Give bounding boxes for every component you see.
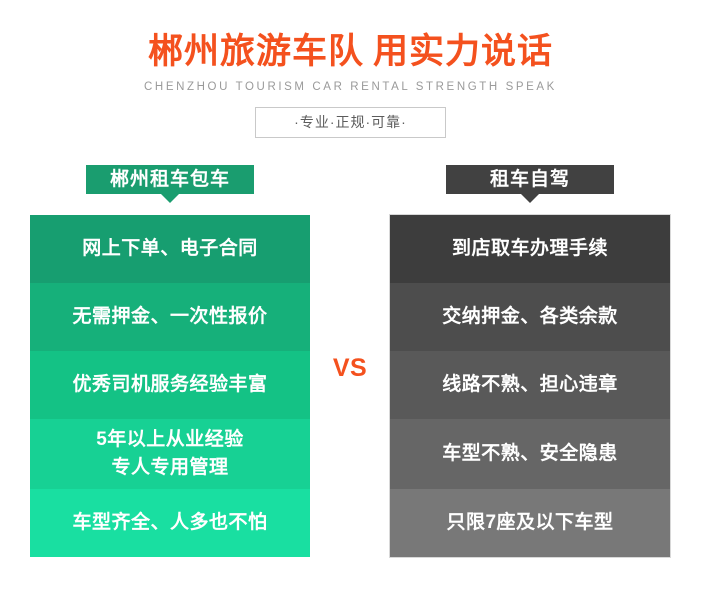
page-subtitle: CHENZHOU TOURISM CAR RENTAL STRENGTH SPE… [0,81,701,93]
list-item: 到店取车办理手续 [390,215,670,283]
list-item: 5年以上从业经验 专人专用管理 [30,419,310,489]
comparison-column-left: 郴州租车包车 网上下单、电子合同 无需押金、一次性报价 优秀司机服务经验丰富 5… [30,163,310,557]
list-item: 车型不熟、安全隐患 [390,419,670,489]
comparison-section: 郴州租车包车 网上下单、电子合同 无需押金、一次性报价 优秀司机服务经验丰富 5… [0,163,701,573]
list-item: 优秀司机服务经验丰富 [30,351,310,419]
feature-list-right: 到店取车办理手续 交纳押金、各类余款 线路不熟、担心违章 车型不熟、安全隐患 只… [390,215,670,557]
feature-list-left: 网上下单、电子合同 无需押金、一次性报价 优秀司机服务经验丰富 5年以上从业经验… [30,215,310,557]
list-item: 线路不熟、担心违章 [390,351,670,419]
badge-container: ·专业·正规·可靠· [0,107,701,139]
column-header-left: 郴州租车包车 [86,165,254,194]
vs-divider: VS [310,163,390,573]
list-item: 无需押金、一次性报价 [30,283,310,351]
page-header: 郴州旅游车队用实力说话 CHENZHOU TOURISM CAR RENTAL … [0,0,701,138]
list-item: 只限7座及以下车型 [390,489,670,557]
list-item: 交纳押金、各类余款 [390,283,670,351]
page-title-part1: 郴州旅游车队 [148,32,364,71]
page-title-part2: 用实力说话 [373,32,553,71]
comparison-column-right: 租车自驾 到店取车办理手续 交纳押金、各类余款 线路不熟、担心违章 车型不熟、安… [390,163,670,557]
quality-badge: ·专业·正规·可靠· [255,107,446,139]
list-item: 网上下单、电子合同 [30,215,310,283]
column-header-right: 租车自驾 [446,165,614,194]
list-item: 车型齐全、人多也不怕 [30,489,310,557]
page-title: 郴州旅游车队用实力说话 [0,30,701,74]
